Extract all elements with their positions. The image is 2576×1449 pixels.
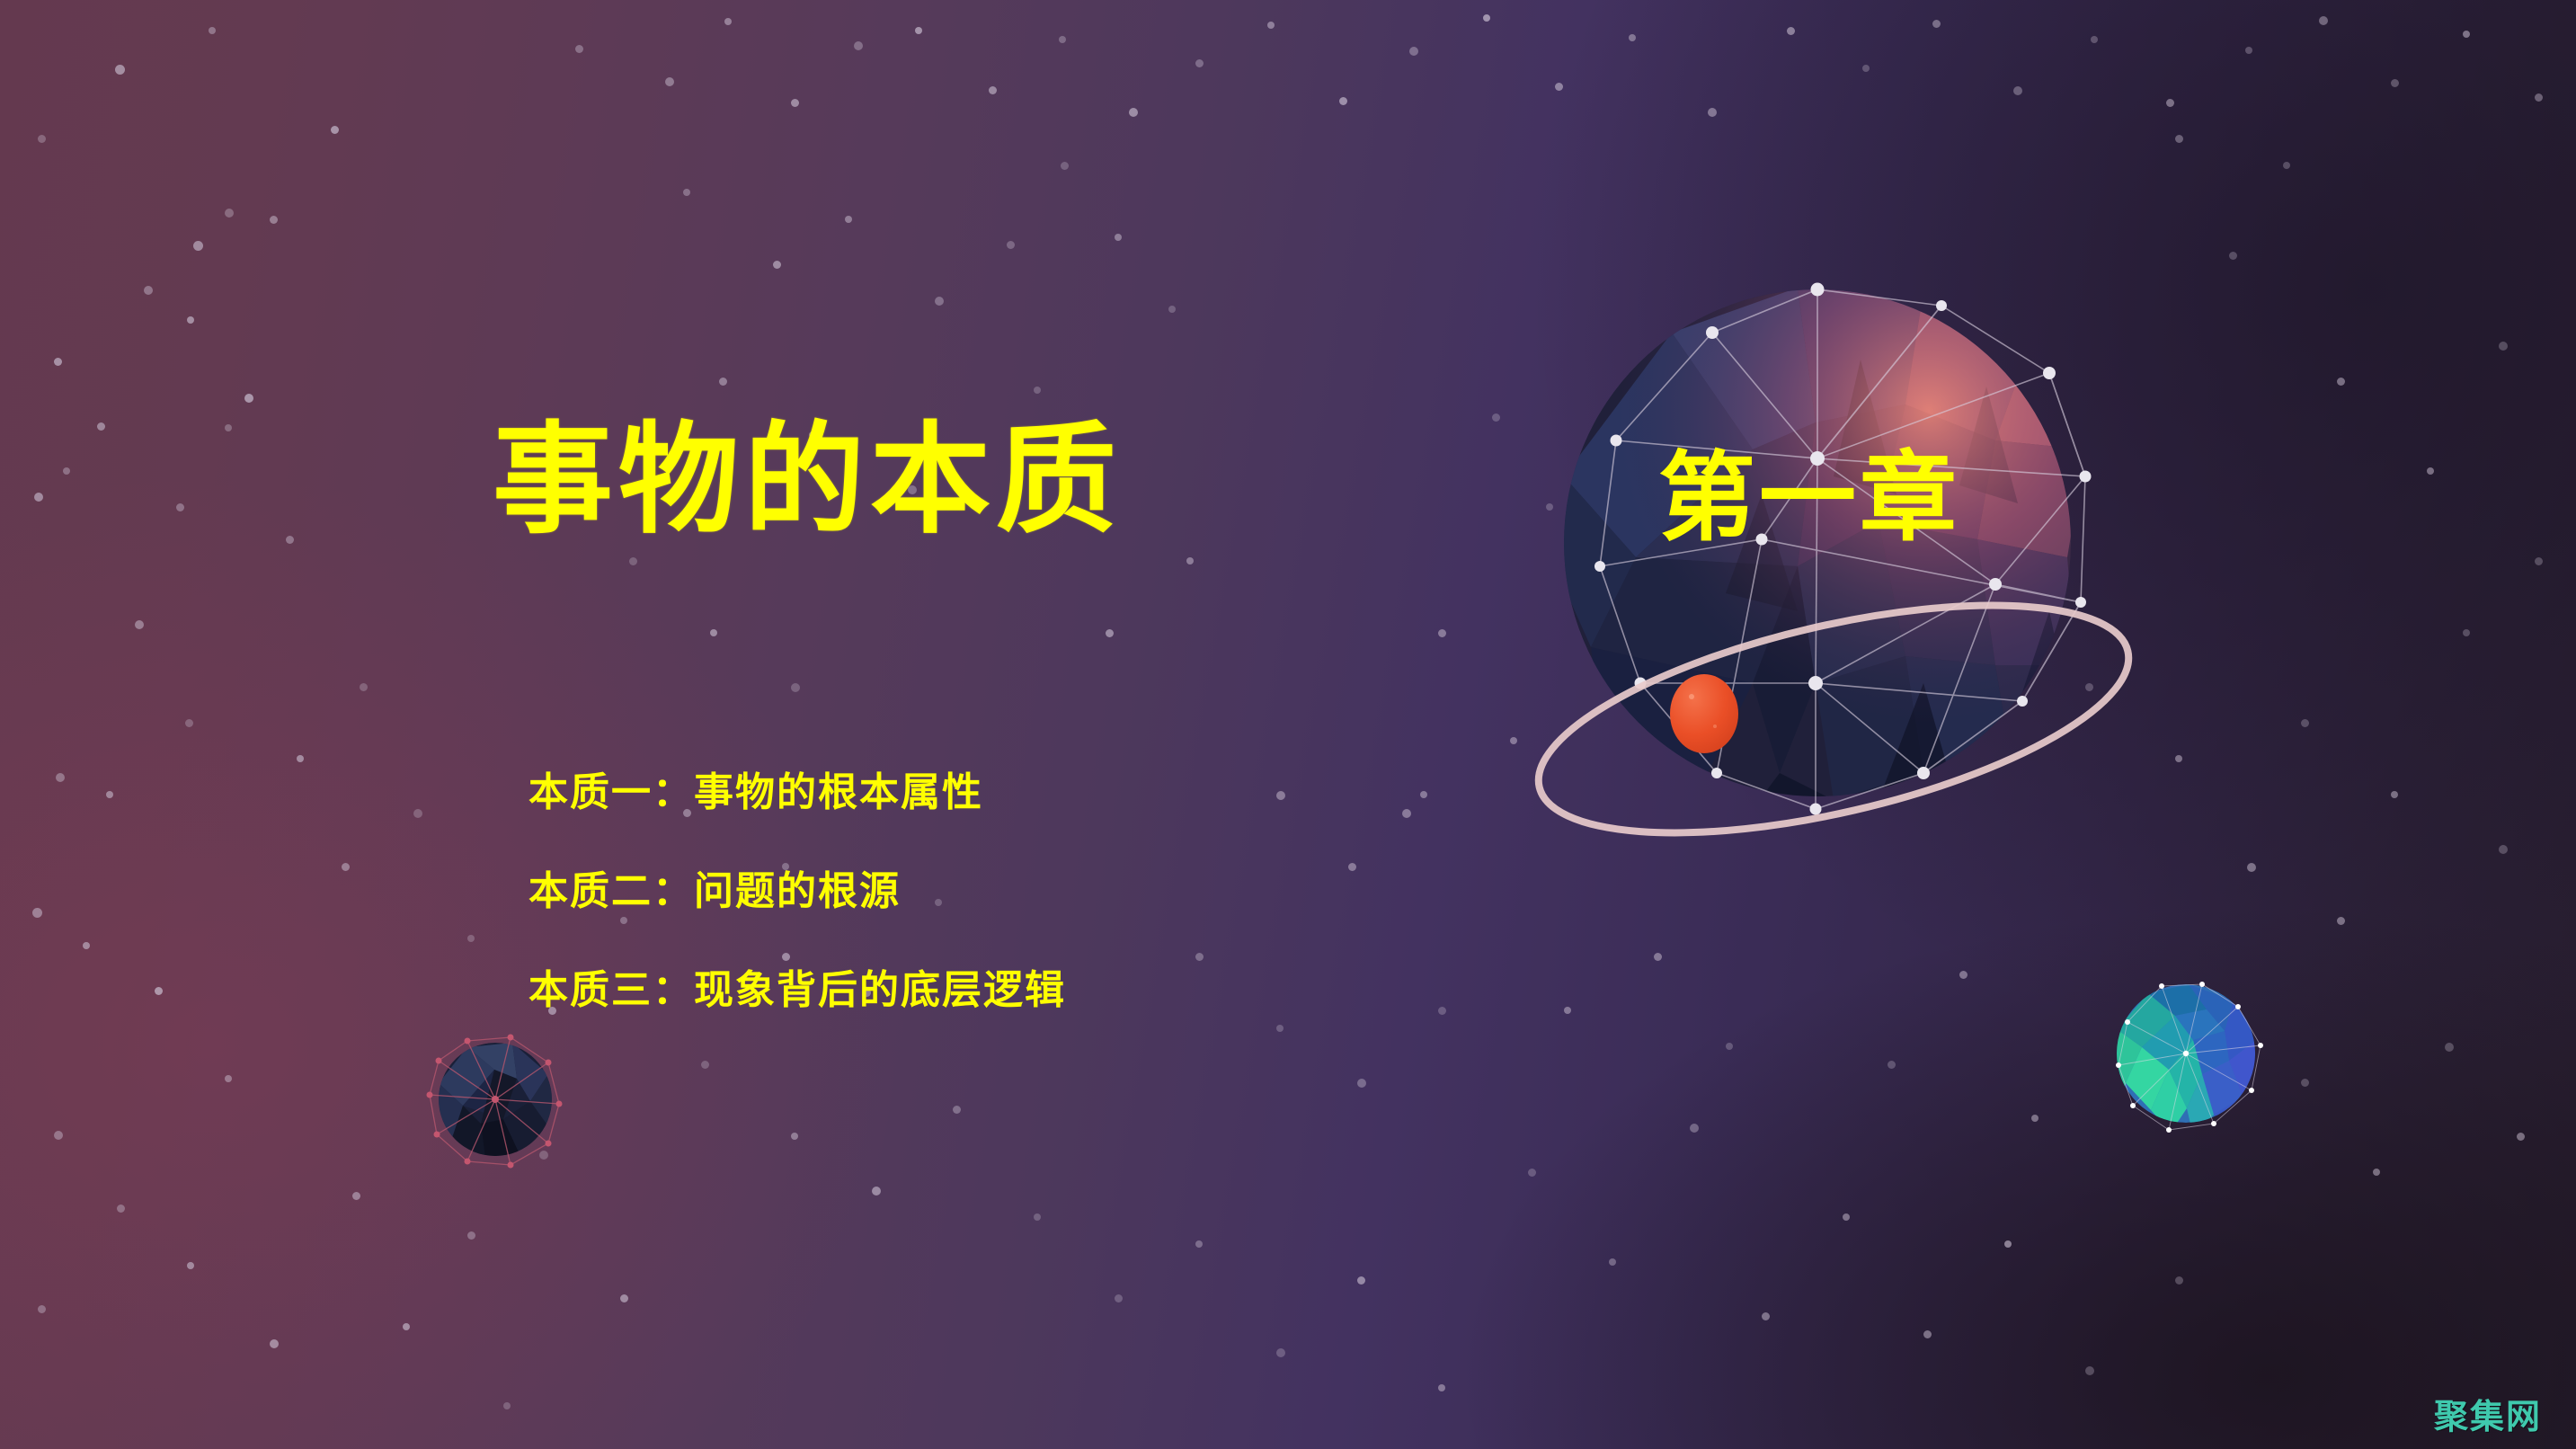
star-dot: [360, 683, 368, 691]
star-dot: [1932, 20, 1941, 28]
star-dot: [1654, 953, 1662, 961]
star-dot: [1762, 1312, 1770, 1320]
star-dot: [331, 126, 339, 134]
star-dot: [1483, 14, 1490, 22]
star-dot: [56, 773, 65, 782]
planet-facets: [1555, 288, 2085, 836]
star-dot: [413, 809, 422, 818]
dark-planet-nodes: [427, 1035, 563, 1169]
star-dot: [1115, 1294, 1123, 1302]
star-dot: [1034, 1213, 1041, 1221]
star-dot: [1129, 108, 1138, 117]
star-dot: [872, 1187, 881, 1196]
star-dot: [2283, 162, 2290, 169]
star-dot: [54, 1131, 63, 1140]
teal-planet-facets: [2113, 984, 2265, 1135]
star-dot: [225, 209, 234, 218]
star-dot: [2427, 467, 2434, 475]
background-warm-tint: [0, 0, 2576, 1449]
star-dot: [467, 1231, 475, 1240]
star-dot: [2499, 845, 2508, 854]
star-dot: [701, 1061, 709, 1069]
star-dot: [1409, 47, 1418, 56]
dark-planet-facets: [433, 1043, 557, 1178]
star-dot: [467, 935, 475, 942]
star-dot: [665, 77, 674, 86]
star-dot: [1708, 108, 1717, 117]
star-dot: [1528, 1169, 1536, 1177]
star-dot: [2463, 629, 2470, 636]
background-dark-tint: [0, 0, 2576, 1449]
star-dot: [2517, 1133, 2525, 1141]
orbit-ring: [1518, 560, 2149, 878]
star-dot: [1510, 737, 1517, 744]
list-item: 本质三：现象背后的底层逻辑: [529, 971, 1517, 1010]
star-dot: [209, 27, 216, 34]
star-dot: [135, 620, 144, 629]
star-dot: [1357, 1079, 1366, 1088]
star-dot: [1115, 234, 1122, 241]
star-dot: [2013, 86, 2022, 95]
star-dot: [1339, 97, 1347, 105]
star-dot: [193, 241, 203, 251]
star-dot: [791, 683, 800, 692]
star-dot: [297, 755, 304, 762]
star-dot: [2085, 683, 2093, 691]
star-dot: [286, 536, 294, 544]
star-dot: [2004, 1240, 2012, 1248]
star-dot: [2166, 99, 2174, 107]
chapter-label: 第一章: [1658, 449, 1960, 547]
star-dot: [2535, 93, 2543, 102]
list-item: 本质一：事物的根本属性: [529, 773, 1517, 813]
star-dot: [629, 557, 637, 565]
star-dot: [2391, 791, 2398, 798]
star-dot: [1888, 1061, 1896, 1069]
dark-planet-network: [430, 1037, 559, 1165]
star-dot: [845, 216, 852, 223]
star-dot: [2337, 917, 2345, 925]
star-dot: [724, 18, 732, 25]
star-dot: [915, 27, 922, 34]
orange-moon: [1670, 674, 1738, 753]
star-dot: [2373, 1169, 2380, 1176]
star-dot: [32, 908, 42, 918]
page-title: 事物的本质: [493, 421, 1122, 541]
star-dot: [2175, 135, 2183, 143]
star-dot: [791, 99, 799, 107]
star-dot: [117, 1205, 125, 1213]
star-dot: [2247, 863, 2256, 872]
bullet-list: 本质一：事物的根本属性 本质二：问题的根源 本质三：现象背后的底层逻辑: [529, 773, 1517, 1010]
star-dot: [155, 987, 163, 995]
star-dot: [575, 45, 583, 53]
star-dot: [935, 297, 944, 306]
star-dot: [2085, 1366, 2094, 1375]
star-dot: [187, 1262, 194, 1269]
star-dot: [176, 503, 184, 511]
star-dot: [225, 424, 232, 431]
star-dot: [1168, 306, 1176, 313]
star-dot: [1438, 629, 1446, 637]
star-dot: [403, 1323, 410, 1330]
star-dot: [38, 135, 46, 143]
star-dot: [791, 1133, 798, 1140]
star-dot: [1059, 36, 1066, 43]
star-dot: [2175, 1276, 2183, 1285]
star-dot: [144, 286, 153, 295]
star-dot: [2499, 342, 2508, 351]
star-dot: [2031, 1115, 2039, 1122]
star-dot: [1492, 413, 1500, 422]
star-dot: [620, 1294, 628, 1302]
star-dot: [106, 791, 113, 798]
star-dot: [2175, 755, 2182, 762]
teal-planet-nodes: [2116, 982, 2263, 1133]
star-dot: [953, 1106, 961, 1114]
star-dot: [115, 65, 125, 75]
star-dot: [2301, 719, 2309, 727]
star-dot: [2229, 252, 2237, 260]
star-dot: [185, 719, 193, 727]
star-dot: [1034, 387, 1041, 394]
watermark: 聚集网: [2434, 1400, 2542, 1435]
star-dot: [1787, 27, 1795, 35]
star-dot: [1195, 1240, 1203, 1248]
star-dot: [2391, 79, 2399, 87]
star-dot: [83, 942, 90, 949]
star-dot: [1555, 83, 1563, 91]
star-dot: [1061, 162, 1069, 170]
star-dot: [503, 1402, 511, 1409]
star-dot: [270, 1339, 279, 1348]
star-dot: [1629, 34, 1636, 41]
star-dot: [34, 493, 43, 502]
star-dot: [1106, 629, 1114, 637]
star-dot: [225, 1075, 232, 1082]
star-dot: [1690, 1124, 1699, 1133]
star-dot: [539, 1151, 548, 1160]
star-dot: [2463, 31, 2470, 38]
star-dot: [1923, 1330, 1932, 1338]
list-item: 本质二：问题的根源: [529, 872, 1517, 911]
star-dot: [1726, 1043, 1733, 1050]
star-dot: [683, 189, 690, 196]
star-dot: [187, 316, 194, 324]
low-poly-planet-teal: [2108, 975, 2270, 1137]
star-dot: [1267, 22, 1275, 29]
star-dot: [54, 358, 62, 366]
star-dot: [1609, 1258, 1616, 1266]
star-dot: [1357, 1276, 1365, 1285]
star-dot: [1959, 971, 1968, 979]
star-dot: [1276, 1348, 1285, 1357]
star-dot: [342, 863, 350, 871]
star-dot: [38, 1305, 46, 1313]
star-dot: [854, 41, 863, 50]
star-dot: [2535, 557, 2543, 565]
star-dot: [719, 378, 727, 386]
star-dot: [352, 1192, 360, 1200]
teal-planet-network: [2119, 984, 2261, 1130]
star-dot: [2245, 47, 2252, 54]
star-dot: [989, 86, 997, 94]
star-dot: [1546, 503, 1553, 511]
background-cool-tint: [0, 0, 2576, 1449]
star-dot: [2445, 1043, 2454, 1052]
star-dot: [773, 261, 781, 269]
star-dot: [244, 394, 253, 403]
star-dot: [2319, 16, 2328, 25]
star-dot: [270, 216, 278, 224]
star-dot: [1438, 1384, 1445, 1391]
low-poly-planet-dark: [395, 998, 602, 1205]
star-dot: [63, 467, 70, 475]
star-dot: [2301, 1079, 2309, 1087]
star-dot: [710, 629, 717, 636]
star-dot: [1186, 557, 1194, 564]
star-dot: [1195, 59, 1204, 67]
star-dot: [1276, 1025, 1284, 1032]
star-dot: [2337, 378, 2345, 386]
star-dot: [1007, 241, 1015, 249]
presentation-slide: 事物的本质 第一章 本质一：事物的根本属性 本质二：问题的根源 本质三：现象背后…: [0, 0, 2576, 1449]
star-dot: [2091, 36, 2098, 43]
star-dot: [1862, 65, 1870, 72]
star-dot: [97, 422, 105, 431]
star-dot: [1564, 1007, 1571, 1014]
star-dot: [1843, 1213, 1850, 1221]
